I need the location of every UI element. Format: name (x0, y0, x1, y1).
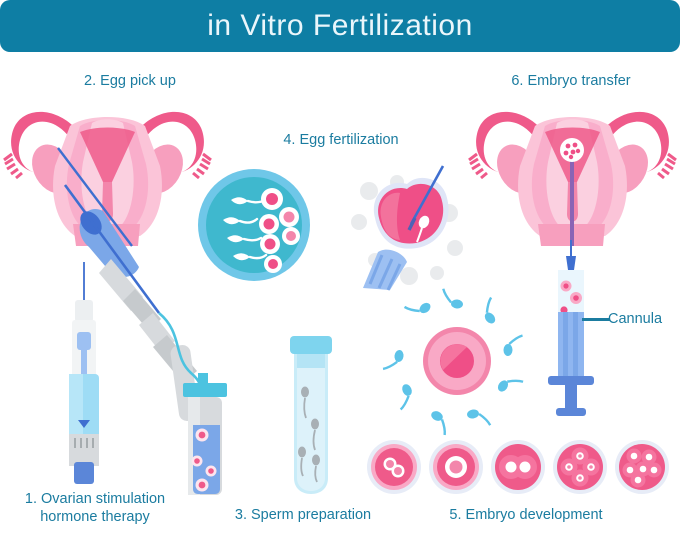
syringe-flange (548, 376, 594, 385)
ovum-with-sperm (395, 298, 520, 426)
pen-needle-hub (75, 300, 93, 322)
icsi-microinjection (345, 160, 470, 290)
label-step-2: 2. Egg pick up (60, 72, 200, 90)
sperm-sample-tube (288, 336, 334, 496)
infographic-canvas: in Vitro Fertilization 2. Egg pick up 4.… (0, 0, 680, 544)
label-step-1: 1. Ovarian stimulation hormone therapy (10, 490, 180, 526)
cannula-leader-line (582, 318, 610, 321)
embryo-stage-3 (491, 440, 545, 494)
tube-cap (290, 336, 332, 354)
embryo-transfer-syringe (540, 240, 600, 420)
petri-dish (197, 168, 312, 283)
embryo-stage-1 (367, 440, 421, 494)
embryo-stage-5 (615, 440, 669, 494)
label-step-6: 6. Embryo transfer (496, 72, 646, 90)
page-title: in Vitro Fertilization (207, 9, 473, 43)
label-step-3: 3. Sperm preparation (223, 506, 383, 524)
syringe-thumb-rest (556, 408, 586, 416)
label-step-5: 5. Embryo development (436, 506, 616, 524)
pen-dose-dial (69, 434, 99, 466)
hormone-injection-pen (62, 262, 114, 487)
label-cannula: Cannula (608, 310, 678, 328)
page-header: in Vitro Fertilization (0, 0, 680, 52)
pen-trigger-button (74, 462, 94, 484)
syringe-plunger-fluid (558, 312, 584, 378)
embryo-stage-2 (429, 440, 483, 494)
syringe-hub (566, 256, 576, 270)
egg-collection-vial (180, 373, 230, 498)
transfer-catheter (570, 156, 574, 246)
uterus-right-illustration (465, 96, 680, 246)
label-step-4: 4. Egg fertilization (266, 131, 416, 149)
embryo-stage-4 (553, 440, 607, 494)
pen-plunger-head (77, 332, 91, 350)
embryo-development-row (366, 438, 656, 496)
vial-cap (183, 383, 227, 397)
